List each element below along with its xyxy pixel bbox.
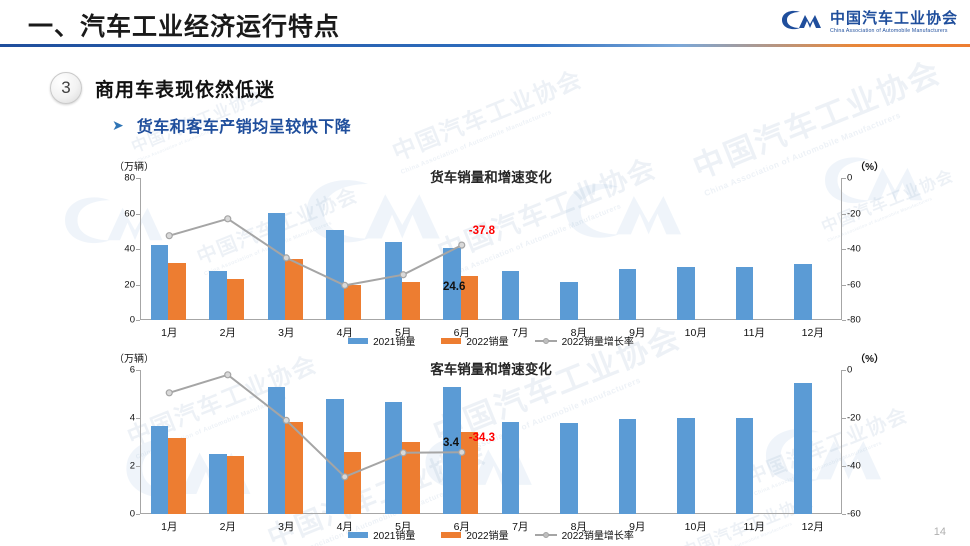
legend-swatch-2022-icon	[441, 338, 461, 344]
chart-category-group: 10月	[667, 370, 726, 514]
slide-header: 一、汽车工业经济运行特点 中国汽车工业协会 China Association …	[0, 0, 970, 48]
caam-mark-icon	[780, 8, 824, 37]
chart-y2tick-label: 0	[847, 173, 852, 184]
chart-ytick-label: 40	[124, 244, 135, 255]
logo-title-en: China Association of Automobile Manufact…	[830, 29, 958, 34]
rate-line-marker	[400, 450, 406, 456]
chart-category-group: 8月	[550, 178, 609, 320]
section-heading: 商用车表现依然低迷	[95, 75, 275, 102]
chart-category-group: 12月	[784, 178, 843, 320]
logo-title-cn: 中国汽车工业协会	[830, 11, 958, 26]
chart-category-group: 12月	[784, 370, 843, 514]
legend-item-2022: 2022销量	[441, 333, 508, 348]
chart-category-group: 7月	[491, 178, 550, 320]
rate-line-marker	[342, 282, 348, 288]
chart-y2tick-label: -80	[847, 315, 861, 326]
bar-2021	[502, 271, 520, 320]
bar-2021	[560, 423, 578, 514]
chart-ytick-label: 4	[130, 413, 135, 424]
chart-data-label: -34.3	[469, 432, 495, 444]
rate-line-marker	[283, 255, 289, 261]
legend-line-marker-icon	[535, 530, 557, 540]
chart-data-label: 24.6	[443, 281, 465, 293]
legend-item-2021: 2021销量	[348, 333, 415, 348]
chart-y2tick-label: 0	[847, 365, 852, 376]
chart-category-group: 6月	[433, 178, 492, 320]
chart-ytick-mark	[136, 320, 140, 321]
chart-ytick-mark	[136, 285, 140, 286]
chart-y2tick-mark	[842, 514, 846, 515]
legend-label-rate: 2022销量增长率	[562, 333, 634, 348]
chart-ytick-mark	[136, 418, 140, 419]
chart-ytick-label: 60	[124, 208, 135, 219]
rate-line-path	[169, 219, 462, 286]
bar-2021	[677, 418, 695, 514]
chart-y2tick-label: -40	[847, 461, 861, 472]
section-number-badge: 3	[50, 72, 82, 104]
bar-2021	[619, 269, 637, 320]
bar-2021	[502, 422, 520, 514]
legend-label-2022: 2022销量	[466, 333, 508, 348]
chart-y2tick-mark	[842, 178, 846, 179]
legend-label-2022: 2022销量	[466, 527, 508, 542]
arrow-bullet-icon: ➤	[112, 118, 124, 132]
brand-logo: 中国汽车工业协会 China Association of Automobile…	[780, 8, 958, 37]
chart-bus-sales: （万辆） （%） 客车销量和增速变化 1月2月3月4月5月6月7月8月9月10月…	[96, 348, 886, 540]
chart-ytick-mark	[136, 214, 140, 215]
bar-2022	[461, 432, 479, 514]
bar-2021	[794, 383, 812, 514]
chart-ytick-mark	[136, 178, 140, 179]
chart-ytick-mark	[136, 466, 140, 467]
bar-2021	[560, 282, 578, 320]
legend-label-2021: 2021销量	[373, 527, 415, 542]
header-divider	[0, 44, 970, 47]
legend-swatch-2021-icon	[348, 532, 368, 538]
page-number: 14	[934, 526, 946, 538]
rate-line-marker	[225, 372, 231, 378]
chart-y2tick-mark	[842, 418, 846, 419]
chart-ytick-label: 0	[130, 509, 135, 520]
section-subheading: 货车和客车产销均呈较快下降	[137, 113, 352, 137]
bar-2021	[736, 418, 754, 514]
subheading-row: ➤ 货车和客车产销均呈较快下降	[112, 113, 351, 137]
chart-category-group: 10月	[667, 178, 726, 320]
chart-truck-sales: （万辆） （%） 货车销量和增速变化 1月2月3月4月5月6月7月8月9月10月…	[96, 156, 886, 346]
legend-swatch-2022-icon	[441, 532, 461, 538]
chart-y2tick-mark	[842, 249, 846, 250]
chart-truck-legend: 2021销量 2022销量 2022销量增长率	[96, 333, 886, 348]
bar-2021	[794, 264, 812, 320]
chart-y2tick-label: -60	[847, 279, 861, 290]
rate-line-marker	[400, 272, 406, 278]
bar-2021	[736, 267, 754, 320]
chart-ytick-mark	[136, 514, 140, 515]
chart-ytick-label: 80	[124, 173, 135, 184]
chart-ytick-label: 6	[130, 365, 135, 376]
legend-line-marker-icon	[535, 336, 557, 346]
rate-line-path	[169, 375, 462, 477]
chart-y2tick-label: -40	[847, 244, 861, 255]
chart-y2tick-mark	[842, 370, 846, 371]
rate-line-marker	[342, 474, 348, 480]
rate-line-marker	[225, 216, 231, 222]
chart-ytick-label: 20	[124, 279, 135, 290]
chart-y2tick-mark	[842, 285, 846, 286]
rate-line-marker	[166, 233, 172, 239]
chart-category-group: 11月	[725, 178, 784, 320]
chart-y2tick-label: -20	[847, 208, 861, 219]
legend-item-rate: 2022销量增长率	[535, 527, 634, 542]
rate-line-marker	[166, 390, 172, 396]
chart-ytick-mark	[136, 370, 140, 371]
chart-y2tick-label: -60	[847, 509, 861, 520]
chart-ytick-mark	[136, 249, 140, 250]
chart-y2tick-label: -20	[847, 413, 861, 424]
rate-line-marker	[283, 417, 289, 423]
legend-swatch-2021-icon	[348, 338, 368, 344]
chart-category-group: 7月	[491, 370, 550, 514]
chart-ytick-label: 2	[130, 461, 135, 472]
chart-category-group: 9月	[608, 178, 667, 320]
legend-label-2021: 2021销量	[373, 333, 415, 348]
chart-data-label: 3.4	[443, 437, 459, 449]
rate-line-marker	[459, 449, 465, 455]
chart-truck-rate-line	[140, 178, 440, 328]
chart-bus-rate-line	[140, 370, 440, 520]
legend-item-rate: 2022销量增长率	[535, 333, 634, 348]
legend-item-2022: 2022销量	[441, 527, 508, 542]
chart-y2tick-mark	[842, 320, 846, 321]
chart-bus-legend: 2021销量 2022销量 2022销量增长率	[96, 527, 886, 542]
legend-item-2021: 2021销量	[348, 527, 415, 542]
chart-bus-plot: 1月2月3月4月5月6月7月8月9月10月11月12月 02460-20-40-…	[140, 370, 842, 514]
chart-truck-plot: 1月2月3月4月5月6月7月8月9月10月11月12月 0204060800-2…	[140, 178, 842, 320]
chart-category-group: 9月	[608, 370, 667, 514]
chart-y2tick-mark	[842, 466, 846, 467]
bar-2021	[677, 267, 695, 320]
chart-data-label: -37.8	[469, 225, 495, 237]
bar-2021	[443, 387, 461, 514]
legend-label-rate: 2022销量增长率	[562, 527, 634, 542]
chart-category-group: 11月	[725, 370, 784, 514]
chart-category-group: 8月	[550, 370, 609, 514]
bar-2021	[619, 419, 637, 514]
rate-line-marker	[459, 242, 465, 248]
chart-y2tick-mark	[842, 214, 846, 215]
chart-ytick-label: 0	[130, 315, 135, 326]
page-title: 一、汽车工业经济运行特点	[28, 7, 340, 43]
